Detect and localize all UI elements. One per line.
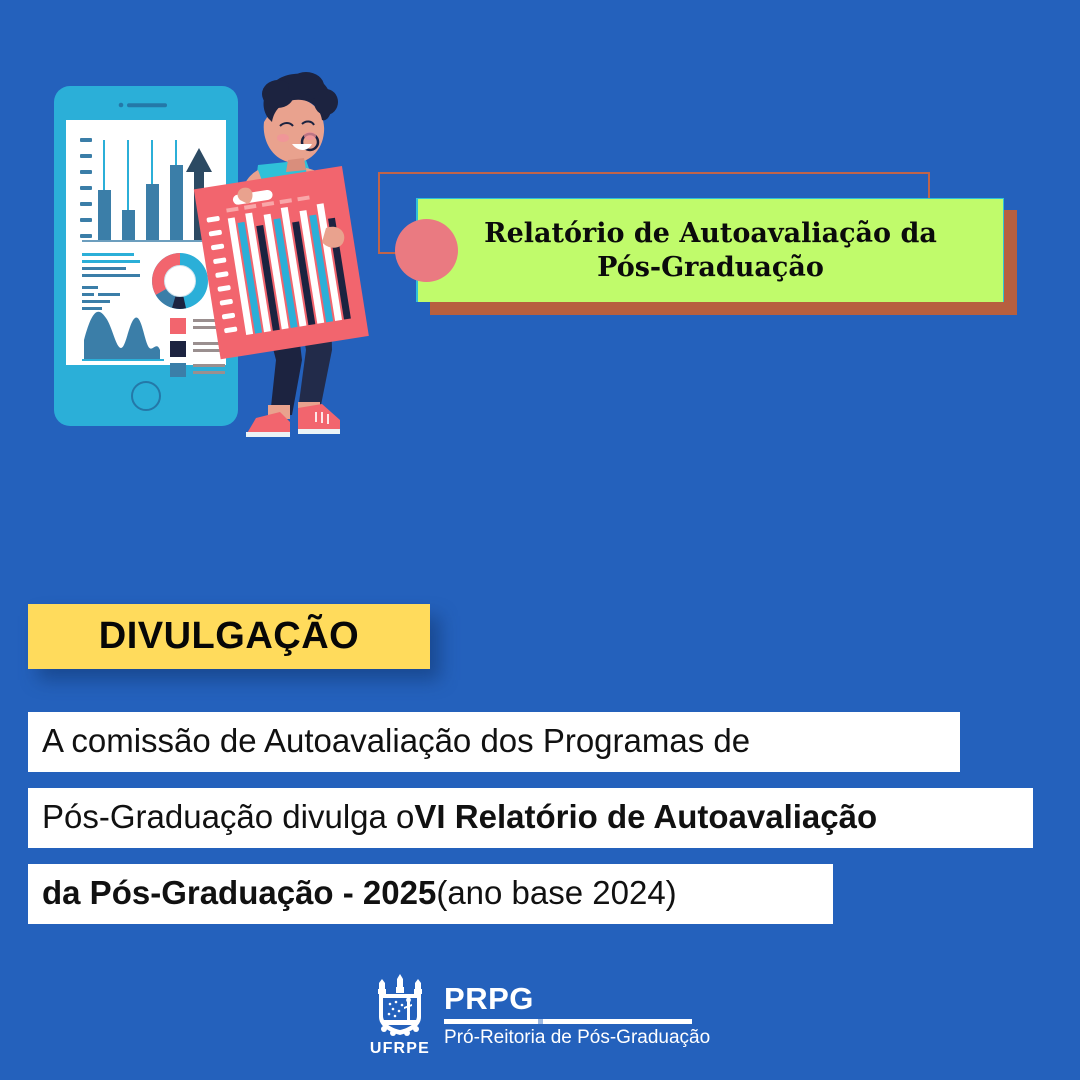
body-line-2-bold: VI Relatório de Autoavaliação	[414, 798, 877, 837]
title-line-2: Pós-Graduação	[597, 252, 824, 283]
tablet-speaker-icon	[127, 103, 167, 107]
body-line-3-plain: (ano base 2024)	[436, 874, 676, 913]
body-line-3: da Pós-Graduação - 2025 (ano base 2024)	[28, 864, 833, 924]
shoe-left-icon	[246, 412, 290, 435]
divulgacao-badge-wrap: DIVULGAÇÃO	[28, 604, 488, 700]
body-line-2: Pós-Graduação divulga o VI Relatório de …	[28, 788, 1033, 848]
poster-canvas: Relatório de Autoavaliação da Pós-Gradua…	[0, 0, 1080, 1080]
title-accent-circle	[395, 219, 458, 282]
tablet-camera-icon	[119, 103, 124, 108]
title-banner-group: Relatório de Autoavaliação da Pós-Gradua…	[378, 172, 1026, 322]
prpg-org-name: Pró-Reitoria de Pós-Graduação	[444, 1028, 710, 1047]
divulgacao-badge: DIVULGAÇÃO	[28, 604, 430, 669]
ufrpe-crest-block: UFRPE	[370, 973, 430, 1058]
body-line-3-bold: da Pós-Graduação - 2025	[42, 874, 436, 913]
screen-donut-chart	[152, 253, 208, 309]
logo-row: UFRPE PRPG Pró-Reitoria de Pós-Graduação	[370, 973, 710, 1058]
prpg-divider	[444, 1019, 692, 1024]
body-line-2-plain: Pós-Graduação divulga o	[42, 798, 414, 837]
title-box: Relatório de Autoavaliação da Pós-Gradua…	[418, 199, 1003, 302]
hero-illustration	[40, 60, 380, 440]
ufrpe-crest-icon	[371, 973, 429, 1039]
body-line-1: A comissão de Autoavaliação dos Programa…	[28, 712, 960, 772]
body-text-block: A comissão de Autoavaliação dos Programa…	[28, 712, 1048, 940]
illustration-svg	[40, 60, 380, 440]
title-line-1: Relatório de Autoavaliação da	[484, 218, 937, 249]
body-line-1-text: A comissão de Autoavaliação dos Programa…	[42, 722, 750, 761]
report-document	[194, 166, 369, 359]
badge-label: DIVULGAÇÃO	[99, 615, 359, 658]
crest-label: UFRPE	[370, 1040, 430, 1058]
title-text: Relatório de Autoavaliação da Pós-Gradua…	[462, 217, 959, 284]
footer-logo-area: UFRPE PRPG Pró-Reitoria de Pós-Graduação	[0, 960, 1080, 1070]
shoe-right-icon	[298, 404, 340, 432]
prpg-acronym: PRPG	[444, 983, 710, 1014]
prpg-text-block: PRPG Pró-Reitoria de Pós-Graduação	[444, 983, 710, 1047]
